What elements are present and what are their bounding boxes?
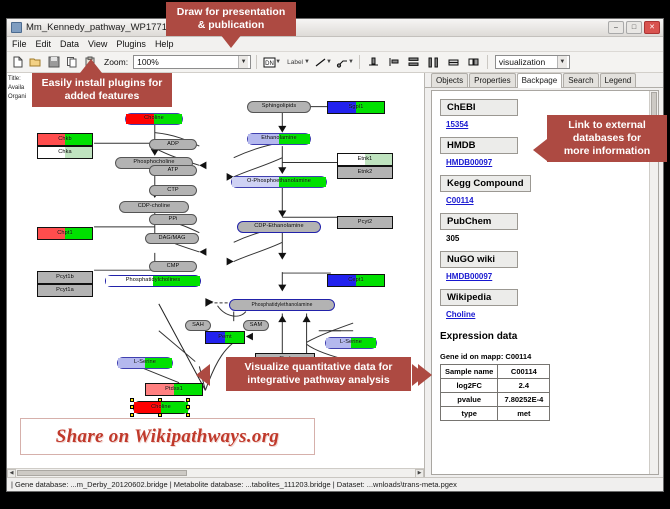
node-label: ATP (168, 168, 179, 174)
menu-help[interactable]: Help (155, 39, 174, 49)
node-label: Choline (151, 405, 171, 411)
pathway-diagram[interactable]: Choline Phosphocholine CDP-choline Phosp… (7, 73, 424, 477)
node-cmp[interactable]: CMP (149, 261, 197, 272)
node-label: Cept1 (348, 278, 363, 284)
node-label: Pemt (218, 335, 231, 341)
node-cdp-choline[interactable]: CDP-choline (119, 201, 189, 213)
node-label: Pcyt2 (358, 220, 373, 226)
node-label: Chkb (58, 137, 71, 143)
chebi-header: ChEBI (440, 99, 518, 116)
kegg-compound-header: Kegg Compound (440, 175, 531, 192)
maximize-button[interactable]: □ (626, 21, 642, 34)
node-label: Ptdss1 (165, 387, 183, 393)
row-value: 2.4 (498, 379, 550, 393)
zoom-caption: Zoom: (104, 57, 128, 67)
gene-id-label: Gene id on mapp: C00114 (440, 352, 650, 361)
nugo-wiki-link[interactable]: HMDB00097 (446, 272, 650, 281)
node-label: L-Serine (134, 360, 156, 366)
menu-data[interactable]: Data (60, 39, 79, 49)
row-key: type (441, 407, 498, 421)
node-chka[interactable]: Chka (37, 146, 93, 159)
scroll-right-icon[interactable]: ▶ (415, 469, 424, 477)
node-pcyt1a[interactable]: Pcyt1a (37, 284, 93, 297)
row-key: pvalue (441, 393, 498, 407)
callout-visualize: Visualize quantitative data for integrat… (226, 357, 411, 391)
callout-visualize-line1: Visualize quantitative data for (234, 361, 403, 374)
node-o-phosphoethanolamine[interactable]: O-Phosphoethanolamine (231, 176, 327, 188)
callout-draw-arrow-icon (220, 34, 242, 48)
node-dagmag[interactable]: DAG/MAG (145, 233, 199, 244)
node-label: Etnk1 (358, 157, 373, 163)
node-pcyt1b[interactable]: Pcyt1b (37, 271, 93, 284)
node-sam[interactable]: SAM (243, 320, 269, 331)
node-label: Sphingolipids (262, 104, 297, 110)
node-sphingolipids[interactable]: Sphingolipids (247, 101, 311, 113)
toolbar-separator (256, 55, 257, 69)
chevron-down-icon[interactable]: ▼ (304, 59, 310, 65)
scroll-left-icon[interactable]: ◀ (7, 469, 16, 477)
window-controls: – □ ✕ (608, 21, 660, 34)
selection-handle[interactable] (186, 413, 190, 417)
chevron-down-icon[interactable]: ▼ (275, 59, 281, 65)
label-tool[interactable]: Label (284, 55, 306, 70)
node-chpt1[interactable]: Chpt1 (37, 227, 93, 240)
callout-draw: Draw for presentation & publication (166, 2, 296, 36)
callout-links-line1: Link to external (555, 119, 659, 132)
table-row: log2FC 2.4 (441, 379, 550, 393)
tab-legend[interactable]: Legend (600, 73, 637, 87)
node-label: CMP (167, 264, 180, 270)
node-label: CDP-choline (138, 204, 171, 210)
node-label: SAM (250, 323, 262, 329)
interaction-tool-group[interactable]: ▼ (335, 55, 354, 70)
node-label: Ethanolamine (261, 136, 296, 142)
toolbar-separator (487, 55, 488, 69)
node-chkb[interactable]: Chkb (37, 133, 93, 146)
minimize-button[interactable]: – (608, 21, 624, 34)
selection-handle[interactable] (130, 413, 134, 417)
zoom-combo[interactable]: 100% ▼ (133, 55, 251, 69)
expression-table: Sample name C00114 log2FC 2.4 pvalue 7.8… (440, 364, 550, 421)
callout-plugins-arrow-icon (80, 59, 102, 73)
zoom-value: 100% (137, 57, 159, 67)
callout-plugins-line2: added features (40, 90, 164, 103)
node-label: SAH (192, 323, 204, 329)
tab-search[interactable]: Search (563, 73, 598, 87)
menu-bar: File Edit Data View Plugins Help (7, 37, 663, 52)
node-pcyt2[interactable]: Pcyt2 (337, 216, 393, 229)
node-l-serine-left[interactable]: L-Serine (117, 357, 173, 369)
table-row: Sample name C00114 (441, 365, 550, 379)
node-etnk1[interactable]: Etnk1 (337, 153, 393, 166)
title-bar: Mm_Kennedy_pathway_WP1771_45176.gpml – □… (7, 19, 663, 37)
close-button[interactable]: ✕ (644, 21, 660, 34)
row-value: C00114 (498, 365, 550, 379)
svg-text:DN: DN (265, 61, 274, 67)
node-sgpl1[interactable]: Sgpl1 (327, 101, 385, 114)
menu-plugins[interactable]: Plugins (116, 39, 146, 49)
chevron-down-icon[interactable]: ▼ (238, 56, 248, 68)
node-label: ADP (167, 142, 179, 148)
distribute-vertical-icon[interactable] (405, 55, 422, 70)
visualization-combo[interactable]: visualization ▼ (495, 55, 570, 69)
callout-links-line3: more information (555, 145, 659, 158)
node-label: Chpt1 (57, 231, 72, 237)
callout-plugins: Easily install plugins for added feature… (32, 73, 172, 107)
selection-handle[interactable] (130, 398, 134, 402)
node-ctp[interactable]: CTP (149, 185, 197, 196)
menu-edit[interactable]: Edit (36, 39, 52, 49)
selection-handle[interactable] (158, 398, 162, 402)
callout-share-text: Share on Wikipathways.org (56, 426, 279, 448)
node-label: Etnk2 (358, 170, 373, 176)
callout-draw-line1: Draw for presentation (174, 6, 288, 19)
node-label: L-Serine (340, 340, 362, 346)
callout-links-line2: databases for (555, 132, 659, 145)
save-disk-icon[interactable] (46, 55, 61, 70)
node-ptdss1[interactable]: Ptdss1 (145, 383, 203, 396)
node-label: CTP (167, 188, 179, 194)
toolbar: Zoom: 100% ▼ DN ▼ Label ▼ ▼ ▼ (7, 52, 663, 73)
node-ethanolamine-top[interactable]: Ethanolamine (247, 133, 311, 145)
node-label: Pcyt1a (56, 288, 74, 294)
expression-data-title: Expression data (440, 331, 650, 342)
selection-handle[interactable] (186, 405, 190, 409)
chevron-down-icon[interactable]: ▼ (348, 59, 354, 65)
callout-visualize-arrow-left-icon (196, 364, 210, 386)
node-label: Choline (144, 116, 164, 122)
table-row: type met (441, 407, 550, 421)
selection-handle[interactable] (158, 413, 162, 417)
group-icon[interactable] (465, 55, 482, 70)
align-left-icon[interactable] (385, 55, 402, 70)
node-choline-top[interactable]: Choline (125, 113, 183, 125)
new-file-icon[interactable] (10, 55, 25, 70)
node-pemt[interactable]: Pemt (205, 331, 245, 344)
menu-view[interactable]: View (88, 39, 107, 49)
app-icon (11, 22, 22, 33)
node-cept1[interactable]: Cept1 (327, 274, 385, 287)
side-panel-tabs: Objects Properties Backpage Search Legen… (425, 73, 663, 88)
node-etnk2[interactable]: Etnk2 (337, 166, 393, 179)
visualization-value: visualization (499, 57, 545, 67)
callout-draw-line2: & publication (174, 19, 288, 32)
status-bar: | Gene database: ...m_Derby_20120602.bri… (7, 477, 663, 491)
status-text: | Gene database: ...m_Derby_20120602.bri… (11, 480, 457, 489)
node-label: CDP-Ethanolamine (254, 224, 303, 230)
callout-links-arrow-icon (533, 139, 547, 161)
chevron-down-icon[interactable]: ▼ (557, 56, 567, 68)
line-tool-group[interactable]: ▼ (313, 55, 332, 70)
table-row: pvalue 7.80252E-4 (441, 393, 550, 407)
callout-visualize-line2: integrative pathway analysis (234, 374, 403, 387)
node-phosphatidylethanolamine[interactable]: Phosphatidylethanolamine (229, 299, 335, 311)
selection-handle[interactable] (130, 405, 134, 409)
canvas-title-label: Title: (8, 75, 26, 84)
node-adp[interactable]: ADP (149, 139, 197, 150)
node-label: Phosphatidylcholines (126, 278, 181, 284)
canvas-availability-label: Availa (8, 84, 26, 93)
nugo-wiki-header: NuGO wiki (440, 251, 518, 268)
node-l-serine-right[interactable]: L-Serine (325, 337, 377, 349)
stack-icon[interactable] (445, 55, 462, 70)
hmdb-header: HMDB (440, 137, 518, 154)
menu-file[interactable]: File (12, 39, 27, 49)
align-top-icon[interactable] (365, 55, 382, 70)
canvas-info-labels: Title: Availa Organi (8, 75, 26, 102)
node-label: PPi (168, 217, 177, 223)
callout-expression-arrow-icon (418, 364, 432, 386)
node-ppi[interactable]: PPi (149, 214, 197, 225)
pathway-canvas-pane[interactable]: Title: Availa Organi (7, 73, 425, 477)
row-key: Sample name (441, 365, 498, 379)
node-label: Phosphatidylethanolamine (251, 303, 312, 308)
tab-objects[interactable]: Objects (431, 73, 468, 87)
canvas-organism-label: Organi (8, 93, 26, 102)
node-label: Sgpl1 (349, 105, 364, 111)
node-atp[interactable]: ATP (149, 165, 197, 176)
node-sah[interactable]: SAH (185, 320, 211, 331)
toolbar-separator (359, 55, 360, 69)
canvas-hscrollbar[interactable]: ◀ ▶ (7, 468, 424, 477)
distribute-horizontal-icon[interactable] (425, 55, 442, 70)
copy-icon[interactable] (64, 55, 79, 70)
row-value: 7.80252E-4 (498, 393, 550, 407)
node-label: Pcyt1b (56, 275, 74, 281)
pubchem-header: PubChem (440, 213, 518, 230)
callout-links: Link to external databases for more info… (547, 115, 667, 162)
node-phosphatidylcholines[interactable]: Phosphatidylcholines (105, 275, 201, 287)
wikipedia-link[interactable]: Choline (446, 310, 650, 319)
tab-properties[interactable]: Properties (469, 73, 515, 87)
callout-plugins-line1: Easily install plugins for (40, 77, 164, 90)
canvas-hscroll-thumb[interactable] (17, 470, 187, 476)
selection-handle[interactable] (186, 398, 190, 402)
node-label: Chka (58, 150, 71, 156)
node-cdp-ethanolamine[interactable]: CDP-Ethanolamine (237, 221, 321, 233)
wikipedia-header: Wikipedia (440, 289, 518, 306)
node-label: Phosphocholine (133, 160, 174, 166)
tab-backpage[interactable]: Backpage (517, 73, 563, 88)
label-tool-group[interactable]: Label ▼ (284, 55, 310, 70)
chevron-down-icon[interactable]: ▼ (326, 59, 332, 65)
row-value: met (498, 407, 550, 421)
datanode-tool-group[interactable]: DN ▼ (262, 55, 281, 70)
open-folder-icon[interactable] (28, 55, 43, 70)
kegg-compound-link[interactable]: C00114 (446, 196, 650, 205)
callout-share: Share on Wikipathways.org (20, 418, 315, 455)
node-label: DAG/MAG (158, 236, 185, 242)
node-label: O-Phosphoethanolamine (247, 179, 311, 185)
pubchem-value: 305 (446, 234, 650, 243)
row-key: log2FC (441, 379, 498, 393)
